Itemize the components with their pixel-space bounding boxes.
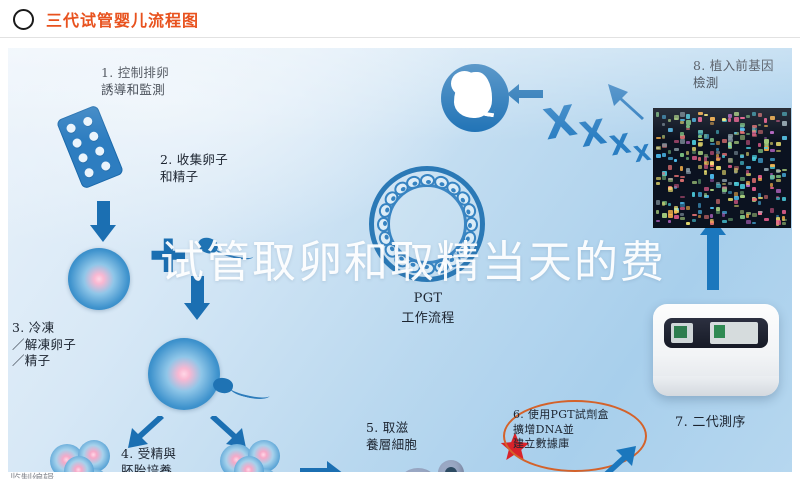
gel-band (728, 142, 732, 146)
gel-band (662, 175, 666, 179)
gel-band (698, 143, 702, 147)
gel-band (674, 159, 677, 162)
gel-band (680, 217, 685, 220)
step-5-label: 5. 取滋 養層細胞 (366, 420, 417, 453)
gel-band (704, 164, 708, 169)
footnote-text: 监制编辑 (10, 470, 54, 482)
gel-band (722, 155, 725, 157)
gel-band (728, 191, 732, 194)
gel-band (674, 118, 678, 120)
gel-band (734, 151, 738, 155)
gel-band (662, 135, 665, 137)
fertilizing-sperm-tail-icon (229, 381, 271, 402)
gel-band (710, 179, 714, 182)
chromosome-icon-4: X (632, 141, 653, 169)
gel-band (782, 222, 786, 225)
gel-band (758, 158, 763, 162)
gel-band (722, 220, 727, 223)
gel-band (704, 187, 709, 191)
gel-band (752, 112, 756, 116)
gel-band (728, 138, 733, 142)
gel-band (734, 182, 739, 187)
gel-band (698, 192, 702, 197)
gel-band (674, 184, 679, 188)
gel-band (680, 196, 685, 198)
gel-band (662, 153, 666, 157)
gel-band (734, 112, 739, 116)
arrow-chromosomes-to-fetus-icon (505, 82, 545, 106)
gel-band (662, 202, 665, 205)
step-7-label: 7. 二代測序 (675, 414, 746, 431)
step-3-label: 3. 冷凍 ／解凍卵子 ／精子 (12, 320, 76, 370)
gel-band (668, 203, 671, 207)
gel-band (740, 215, 745, 219)
gel-band (662, 123, 665, 126)
gel-band (698, 157, 701, 161)
gel-band (764, 125, 768, 127)
gel-band (686, 141, 690, 144)
gel-band (740, 184, 745, 189)
gel-band (686, 168, 690, 171)
gel-band (746, 181, 750, 185)
gel-band (716, 184, 721, 188)
gel-band (752, 127, 755, 130)
gel-band (746, 140, 750, 145)
gel-band (728, 158, 733, 162)
gel-band (680, 213, 684, 216)
gel-band (758, 201, 761, 204)
gel-band (728, 218, 733, 222)
arrow-embryo-to-trophectoderm-icon (300, 468, 328, 472)
gel-band (656, 146, 661, 149)
fertilized-oocyte-icon (148, 338, 220, 410)
gel-band (740, 128, 745, 131)
gel-band (656, 112, 659, 116)
gel-band (680, 132, 684, 136)
gel-band (698, 210, 702, 215)
gel-band (776, 175, 781, 178)
gel-band (692, 214, 697, 216)
gel-band (680, 139, 685, 144)
gel-band (704, 134, 707, 138)
gel-band (764, 168, 768, 170)
gel-band (710, 161, 714, 165)
gel-band (746, 133, 750, 135)
gel-band (668, 157, 673, 161)
gel-band (680, 166, 683, 171)
gel-band (758, 143, 761, 147)
gel-band (734, 205, 739, 207)
gel-band (680, 207, 685, 210)
gel-band (746, 166, 751, 169)
gel-band (752, 198, 757, 202)
gel-band (686, 114, 690, 119)
gel-band (722, 213, 725, 217)
gel-band (764, 118, 767, 122)
gel-band (722, 170, 726, 175)
header-divider (0, 37, 800, 38)
gel-band (752, 213, 757, 217)
gel-band (728, 182, 732, 185)
gel-band (716, 199, 720, 204)
gel-band (746, 115, 750, 118)
gel-band (734, 196, 739, 200)
gel-band (770, 131, 774, 134)
gel-band (734, 168, 738, 173)
gel-band (698, 203, 701, 208)
blastocyst-cell (420, 174, 435, 187)
flowchart-image: 1. 控制排卵 誘導和監測 3. 冷凍 ／解凍卵子 ／精子 2. 收集卵子 和精… (8, 48, 792, 472)
dna-sequencing-gel-image (653, 108, 791, 228)
gel-band (770, 142, 773, 145)
gel-band (698, 130, 703, 135)
gel-band (740, 195, 745, 198)
gel-band (668, 119, 671, 122)
step-2-label: 2. 收集卵子 和精子 (160, 152, 228, 185)
gel-band (674, 140, 679, 143)
arrow-step1-to-step3-icon (97, 201, 110, 226)
arrow-pgt-to-sequencer-icon (594, 444, 638, 472)
gel-band (656, 200, 660, 205)
gel-band (674, 210, 677, 213)
gel-band (698, 179, 701, 184)
gel-band (656, 154, 661, 158)
gel-band (770, 183, 773, 187)
gel-band (710, 214, 713, 218)
gel-band (734, 141, 739, 143)
gel-band (710, 189, 714, 191)
dna-sequencer-machine-icon (653, 304, 779, 396)
gel-band (662, 213, 667, 218)
gel-band (776, 120, 780, 123)
gel-band (740, 177, 745, 181)
page-title: 三代试管婴儿流程图 (46, 7, 199, 31)
gel-band (776, 220, 781, 224)
gel-band (740, 117, 745, 120)
gel-band (740, 155, 744, 158)
gel-band (782, 197, 786, 201)
gel-band (716, 141, 720, 145)
gel-band (746, 147, 751, 150)
gel-band (668, 165, 672, 170)
gel-band (728, 118, 731, 123)
gel-band (686, 128, 690, 130)
step-4-label: 4. 受精與 胚胎培養 (121, 446, 176, 472)
gel-band (740, 123, 745, 126)
gel-band (686, 151, 689, 155)
gel-band (758, 113, 762, 117)
gel-band (722, 186, 727, 189)
arrow-to-embryo-left-icon (126, 416, 166, 450)
gel-band (722, 183, 726, 185)
gel-band (710, 117, 715, 120)
gel-band (674, 175, 679, 177)
gel-band (656, 137, 661, 139)
fetus-badge-icon (441, 64, 509, 132)
step-1-label: 1. 控制排卵 誘導和監測 (101, 65, 169, 98)
gel-band (692, 181, 697, 184)
gel-band (692, 140, 696, 144)
gel-band (770, 116, 775, 120)
gel-band (782, 173, 786, 177)
gel-band (752, 131, 756, 135)
gel-band (680, 153, 684, 157)
gel-band (776, 196, 779, 198)
gel-band (752, 178, 756, 183)
gel-band (746, 152, 749, 156)
gel-band (710, 207, 714, 209)
gel-band (734, 200, 738, 204)
gel-band (770, 149, 775, 152)
gel-band (704, 114, 708, 117)
gel-band (728, 165, 732, 168)
center-pgt-label-line2: 工作流程 (378, 310, 478, 327)
pill-blister-pack-icon (56, 104, 125, 189)
gel-band (680, 121, 684, 124)
circle-outline-icon (13, 9, 34, 30)
gel-band (740, 132, 745, 134)
gel-band (746, 214, 749, 218)
gel-band (740, 210, 744, 214)
gel-band (686, 157, 689, 160)
gel-band (782, 121, 787, 126)
gel-band (776, 179, 781, 182)
gel-band (770, 208, 774, 212)
gel-band (776, 169, 780, 173)
gel-band (656, 182, 660, 185)
gel-band (668, 220, 671, 223)
gel-band (782, 169, 787, 171)
gel-band (776, 142, 781, 147)
gel-band (692, 151, 696, 154)
gel-band (752, 155, 757, 159)
gel-band (716, 166, 721, 170)
gel-band (662, 115, 666, 119)
gel-band (710, 143, 715, 145)
gel-band (692, 219, 696, 222)
gel-band (704, 215, 709, 219)
gel-band (692, 156, 697, 160)
gel-band (656, 177, 661, 180)
gel-band (668, 214, 673, 218)
gel-band (728, 114, 732, 119)
gel-band (776, 189, 781, 194)
gel-band (668, 187, 673, 191)
gel-band (686, 222, 690, 226)
gel-band (710, 168, 714, 171)
oocyte-icon (68, 248, 130, 310)
gel-band (680, 202, 684, 204)
gel-band (704, 171, 707, 175)
gel-band (710, 151, 714, 155)
gel-band (668, 150, 671, 154)
gel-band (698, 117, 702, 122)
gel-band (782, 112, 787, 116)
gel-band (674, 148, 679, 150)
gel-band (734, 117, 739, 122)
gel-band (716, 158, 720, 160)
gel-band (698, 112, 703, 114)
gel-band (668, 128, 673, 132)
gel-band (782, 136, 787, 140)
gel-band (698, 135, 702, 138)
center-pgt-label-line1: PGT (386, 290, 470, 307)
gel-band (740, 161, 744, 165)
gel-band (710, 122, 714, 125)
arrow-sequencer-to-gel-icon (707, 234, 719, 290)
gel-band (686, 206, 690, 211)
gel-band (758, 197, 763, 200)
gel-band (722, 139, 727, 143)
gel-band (770, 164, 775, 167)
gel-band (698, 165, 702, 169)
gel-band (674, 206, 678, 210)
gel-band (692, 192, 695, 197)
gel-band (716, 151, 720, 154)
gel-band (692, 147, 696, 150)
gel-band (752, 222, 756, 224)
gel-band (674, 215, 679, 219)
chromosome-icon-3: X (607, 128, 633, 162)
watermark-primary: 试管取卵和取精当天的费 (160, 226, 666, 290)
step-8-label: 8. 植入前基因 檢測 (693, 58, 774, 91)
gel-band (776, 150, 781, 152)
gel-band (692, 118, 696, 121)
gel-band (758, 130, 763, 134)
screenshot-root: 三代试管婴儿流程图 1. 控制排卵 誘導和監測 3. 冷凍 ／解凍卵子 ／精子 … (0, 0, 800, 482)
chromosome-icon-1: X (540, 96, 580, 150)
gel-band (758, 149, 763, 153)
gel-band (746, 220, 751, 224)
gel-band (716, 207, 720, 210)
gel-band (698, 139, 703, 141)
gel-band (764, 144, 769, 147)
gel-band (770, 175, 774, 180)
gel-band (710, 138, 714, 142)
gel-band (704, 193, 707, 197)
gel-band (746, 170, 749, 174)
gel-band (656, 210, 659, 214)
page-header: 三代试管婴儿流程图 (0, 0, 800, 38)
gel-band (770, 158, 775, 160)
gel-band (782, 210, 786, 214)
gel-band (698, 215, 701, 218)
gel-band (656, 220, 660, 222)
gel-band (752, 187, 756, 191)
gel-band (668, 178, 673, 182)
gel-band (716, 130, 719, 134)
gel-band (680, 179, 684, 182)
gel-band (758, 178, 762, 180)
gel-band (758, 124, 761, 126)
gel-band (698, 151, 703, 155)
arrow-gel-to-fetus-icon (600, 76, 646, 122)
gel-band (680, 112, 685, 116)
gel-band (704, 161, 709, 165)
gel-band (728, 198, 733, 201)
gel-band (764, 218, 769, 221)
gel-band (662, 143, 667, 147)
gel-band (722, 179, 727, 182)
gel-band (740, 135, 745, 139)
gel-band (764, 195, 768, 199)
